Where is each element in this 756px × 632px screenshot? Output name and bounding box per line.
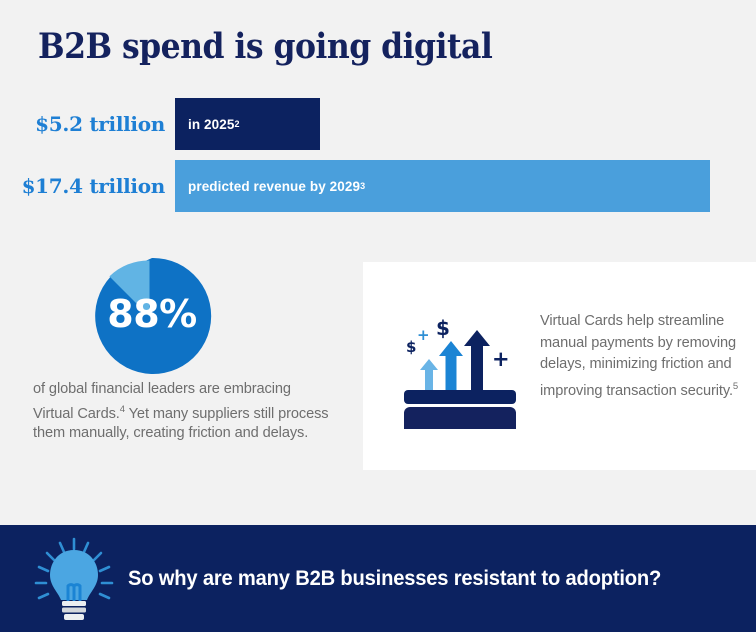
virtual-cards-description: Virtual Cards help streamline manual pay… [540,311,745,402]
lightbulb-icon [26,534,122,626]
question-banner: So why are many B2B businesses resistant… [0,525,756,632]
virtual-cards-panel: $ + $ + Virtual Cards help stream [363,262,756,470]
pie-caption: of global financial leaders are embracin… [33,380,333,443]
svg-text:+: + [417,326,430,344]
bar-row-2025: $5.2 trillion in 20252 [30,98,710,150]
svg-text:+: + [492,347,510,371]
credit-card-growth-arrows-icon: $ + $ + [398,304,528,429]
svg-text:$: $ [436,316,450,340]
bar-inside-label-2029: predicted revenue by 2029 [188,179,360,194]
virtual-cards-description-text: Virtual Cards help streamline manual pay… [540,313,736,398]
bar-2025: in 20252 [175,98,320,150]
banner-question: So why are many B2B businesses resistant… [128,525,661,632]
bar-inside-label-2025: in 2025 [188,117,234,132]
pie-chart-svg [88,254,220,374]
page-title: B2B spend is going digital [38,26,492,67]
bar-footnote-2025: 2 [234,119,239,129]
pie-chart: 88% [88,254,220,374]
bar-2029: predicted revenue by 20293 [175,160,710,212]
bar-footnote-2029: 3 [360,181,365,191]
virtual-cards-footnote: 5 [733,381,738,392]
infographic-root: B2B spend is going digital $5.2 trillion… [0,0,756,632]
svg-text:$: $ [406,338,416,356]
bar-amount-label-2025: $5.2 trillion [30,98,165,150]
bar-amount-label-2029: $17.4 trillion [30,160,165,212]
bar-row-2029: $17.4 trillion predicted revenue by 2029… [30,160,756,212]
